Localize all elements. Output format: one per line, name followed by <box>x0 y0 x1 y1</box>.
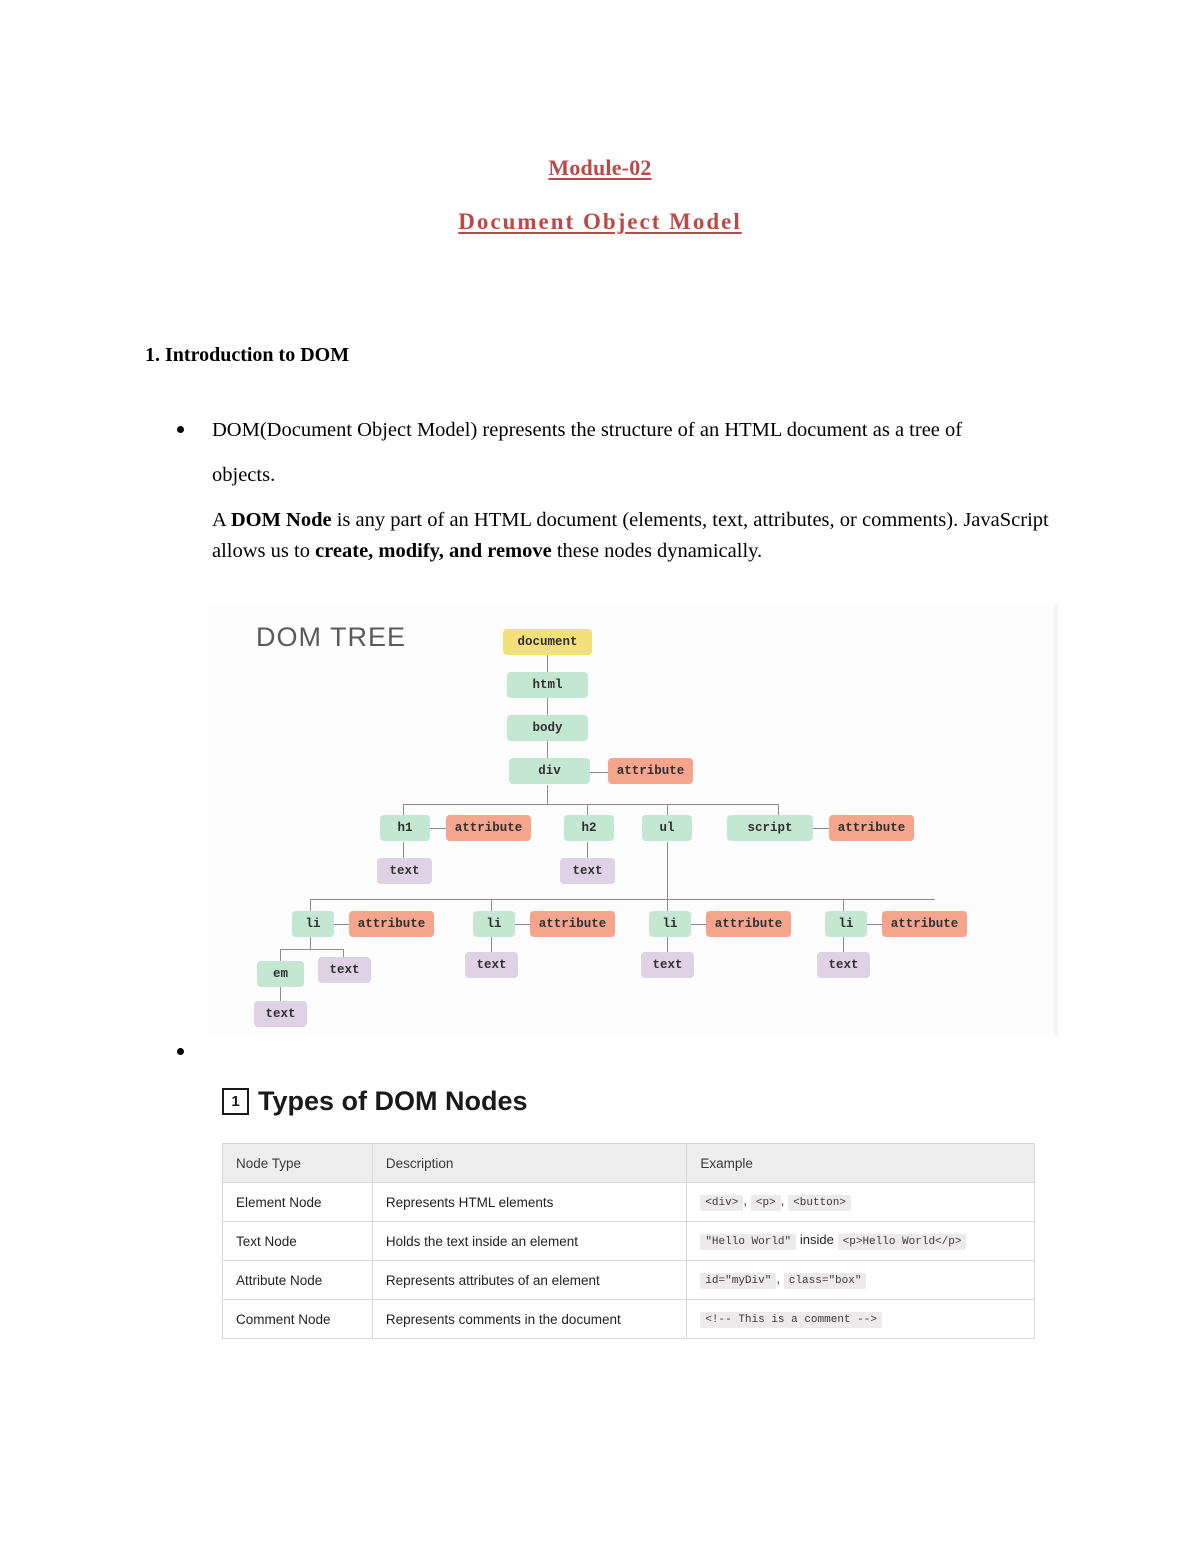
connector-ul-bus <box>310 899 935 900</box>
connector-div-bus-stem <box>547 785 548 804</box>
tree-node-li-2: li <box>473 911 515 937</box>
code-chip: <div> <box>700 1195 743 1211</box>
cell-description: Holds the text inside an element <box>372 1222 686 1261</box>
cell-example: <div>, <p>, <button> <box>687 1183 1035 1222</box>
cell-example: <!-- This is a comment --> <box>687 1300 1035 1339</box>
figure-edge-fade <box>1054 604 1058 1036</box>
connector-li1-children-stem <box>310 937 311 949</box>
document-page: Module-02 Document Object Model 1. Intro… <box>0 0 1200 1553</box>
cell-node-type: Attribute Node <box>223 1261 373 1300</box>
tree-node-li-1: li <box>292 911 334 937</box>
connector-script-attribute <box>813 828 829 829</box>
paragraph-dom-definition: DOM(Document Object Model) represents th… <box>212 408 1012 498</box>
dom-tree-title: DOM TREE <box>256 622 406 653</box>
table-row: Text Node Holds the text inside an eleme… <box>223 1222 1035 1261</box>
chip-separator: , <box>781 1193 789 1208</box>
tree-node-script: script <box>727 815 813 841</box>
tree-node-h2: h2 <box>564 815 614 841</box>
para2-bold-dom-node: DOM Node <box>231 509 332 531</box>
connector-div-bus <box>403 804 778 805</box>
connector-li2-attribute <box>515 924 530 925</box>
tree-node-document: document <box>503 629 592 655</box>
tree-node-li-4-text: text <box>817 952 870 978</box>
dom-tree-diagram: DOM TREE <box>208 604 1058 1036</box>
cell-description: Represents attributes of an element <box>372 1261 686 1300</box>
tree-node-div: div <box>509 758 590 784</box>
cell-node-type: Element Node <box>223 1183 373 1222</box>
cell-description: Represents comments in the document <box>372 1300 686 1339</box>
tree-node-h1-attribute: attribute <box>446 815 531 841</box>
connector-bus-li2 <box>491 899 492 911</box>
example-plain-word: inside <box>800 1232 834 1247</box>
connector-li3-attribute <box>691 924 706 925</box>
tree-node-li-1-text: text <box>318 957 371 983</box>
number-one-box-icon: 1 <box>222 1088 249 1115</box>
connector-div-attribute <box>590 772 608 773</box>
tree-node-script-attribute: attribute <box>829 815 914 841</box>
paragraph-dom-node: A DOM Node is any part of an HTML docume… <box>212 505 1057 567</box>
connector-html-body <box>547 698 548 715</box>
code-chip: <p>Hello World</p> <box>838 1234 967 1250</box>
cell-node-type: Text Node <box>223 1222 373 1261</box>
tree-node-li-2-attribute: attribute <box>530 911 615 937</box>
para2-text-3: these nodes dynamically. <box>552 540 762 562</box>
code-chip: <p> <box>751 1195 781 1211</box>
connector-bus-li1 <box>310 899 311 911</box>
table-header-description: Description <box>372 1144 686 1183</box>
tree-node-li-3: li <box>649 911 691 937</box>
code-chip: "Hello World" <box>700 1234 796 1250</box>
connector-bus-li3 <box>667 899 668 911</box>
tree-node-li-3-text: text <box>641 952 694 978</box>
connector-li1-em <box>280 949 281 961</box>
tree-node-li-4-attribute: attribute <box>882 911 967 937</box>
tree-node-div-attribute: attribute <box>608 758 693 784</box>
connector-ul-bus-stem <box>667 842 668 899</box>
cell-description: Represents HTML elements <box>372 1183 686 1222</box>
types-of-dom-nodes-heading-text: Types of DOM Nodes <box>258 1086 528 1117</box>
para2-bold-create-modify-remove: create, modify, and remove <box>315 540 552 562</box>
connector-document-html <box>547 655 548 672</box>
para2-text-1: A <box>212 509 231 531</box>
tree-node-li-1-attribute: attribute <box>349 911 434 937</box>
cell-example: "Hello World" inside <p>Hello World</p> <box>687 1222 1035 1261</box>
tree-node-li-2-text: text <box>465 952 518 978</box>
table-row: Attribute Node Represents attributes of … <box>223 1261 1035 1300</box>
connector-bus-li4 <box>843 899 844 911</box>
tree-node-li-3-attribute: attribute <box>706 911 791 937</box>
connector-li1-children-bus <box>280 949 343 950</box>
code-chip: <button> <box>788 1195 851 1211</box>
cell-node-type: Comment Node <box>223 1300 373 1339</box>
chip-separator: , <box>743 1193 751 1208</box>
table-header-example: Example <box>687 1144 1035 1183</box>
chip-separator: , <box>776 1271 784 1286</box>
code-chip: class="box" <box>784 1273 867 1289</box>
cell-example: id="myDiv", class="box" <box>687 1261 1035 1300</box>
table-header-node-type: Node Type <box>223 1144 373 1183</box>
types-of-dom-nodes-heading: 1 Types of DOM Nodes <box>222 1086 528 1117</box>
code-chip: id="myDiv" <box>700 1273 776 1289</box>
tree-node-em: em <box>257 961 304 987</box>
section-heading-introduction: 1. Introduction to DOM <box>145 344 349 367</box>
connector-em-text <box>280 987 281 1001</box>
document-title-module: Module-02 <box>0 155 1200 181</box>
tree-node-h1-text: text <box>377 858 432 884</box>
bullet-point-icon <box>177 426 184 433</box>
connector-h2-text <box>587 842 588 858</box>
tree-node-em-text: text <box>254 1001 307 1027</box>
connector-li4-attribute <box>867 924 882 925</box>
connector-body-div <box>547 741 548 758</box>
connector-h1-attribute <box>430 828 446 829</box>
document-title-dom: Document Object Model <box>0 209 1200 235</box>
tree-node-ul: ul <box>642 815 692 841</box>
tree-node-li-4: li <box>825 911 867 937</box>
node-types-table: Node Type Description Example Element No… <box>222 1143 1035 1339</box>
tree-node-html: html <box>507 672 588 698</box>
bullet-point-icon-empty <box>177 1048 184 1055</box>
tree-node-body: body <box>507 715 588 741</box>
document-title-dom-text: Document Object Model <box>458 209 741 234</box>
tree-node-h1: h1 <box>380 815 430 841</box>
connector-li1-attribute <box>334 924 349 925</box>
document-title-module-text: Module-02 <box>548 155 651 180</box>
table-row: Comment Node Represents comments in the … <box>223 1300 1035 1339</box>
tree-node-h2-text: text <box>560 858 615 884</box>
connector-h1-text <box>403 842 404 858</box>
code-chip: <!-- This is a comment --> <box>700 1312 882 1328</box>
table-header-row: Node Type Description Example <box>223 1144 1035 1183</box>
table-row: Element Node Represents HTML elements <d… <box>223 1183 1035 1222</box>
